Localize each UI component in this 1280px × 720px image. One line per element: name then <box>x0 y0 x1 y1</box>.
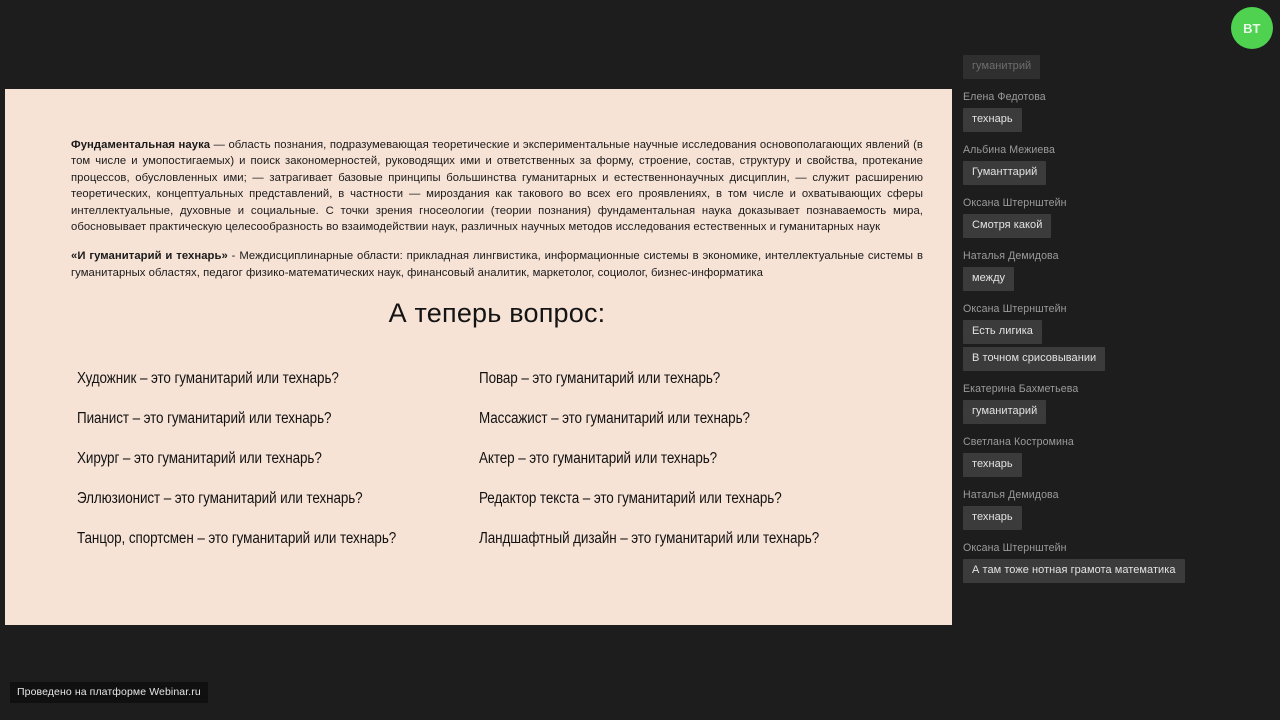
question-item: Эллюзионист – это гуманитарий или технар… <box>77 479 431 519</box>
chat-message-bubble[interactable]: В точном срисовывании <box>963 347 1105 371</box>
paragraph-1-lead: Фундаментальная наука <box>71 139 210 151</box>
question-item: Повар – это гуманитарий или технарь? <box>479 359 870 399</box>
chat-entry: Екатерина Бахметьевагуманитарий <box>954 374 1280 427</box>
chat-message-bubble[interactable]: гуманитрий <box>963 55 1040 79</box>
question-item: Пианист – это гуманитарий или технарь? <box>77 399 431 439</box>
chat-entry: Оксана ШтернштейнСмотря какой <box>954 188 1280 241</box>
paragraph-2-lead: «И гуманитарий и технарь» <box>71 250 228 262</box>
question-item: Актер – это гуманитарий или технарь? <box>479 439 870 479</box>
chat-message-bubble[interactable]: Смотря какой <box>963 214 1051 238</box>
chat-message-bubble[interactable]: технарь <box>963 453 1022 477</box>
chat-entry: гуманитрий <box>954 55 1280 82</box>
chat-message-bubble[interactable]: технарь <box>963 506 1022 530</box>
chat-message-bubble[interactable]: А там тоже нотная грамота математика <box>963 559 1185 583</box>
chat-message-row: А там тоже нотная грамота математика <box>954 559 1280 586</box>
platform-watermark: Проведено на платформе Webinar.ru <box>10 682 208 703</box>
chat-message-row: гуманитарий <box>954 400 1280 427</box>
chat-author: Оксана Штернштейн <box>954 533 1280 559</box>
chat-message-row: между <box>954 267 1280 294</box>
chat-message-row: технарь <box>954 108 1280 135</box>
question-item: Хирург – это гуманитарий или технарь? <box>77 439 431 479</box>
chat-entry: Наталья Демидоватехнарь <box>954 480 1280 533</box>
presentation-slide[interactable]: Фундаментальная наука — область познания… <box>5 89 952 625</box>
chat-message-row: технарь <box>954 453 1280 480</box>
chat-author: Светлана Костромина <box>954 427 1280 453</box>
slide-content: Фундаментальная наука — область познания… <box>71 137 923 559</box>
questions-grid: Художник – это гуманитарий или технарь? … <box>77 359 923 559</box>
question-item: Ландшафтный дизайн – это гуманитарий или… <box>479 519 870 559</box>
chat-author: Оксана Штернштейн <box>954 294 1280 320</box>
webinar-player: ВТ Фундаментальная наука — область позна… <box>0 0 1280 720</box>
question-item: Художник – это гуманитарий или технарь? <box>77 359 431 399</box>
chat-author: Оксана Штернштейн <box>954 188 1280 214</box>
chat-message-bubble[interactable]: между <box>963 267 1014 291</box>
chat-author: Наталья Демидова <box>954 241 1280 267</box>
chat-message-row: Гуманттарий <box>954 161 1280 188</box>
chat-message-row: технарь <box>954 506 1280 533</box>
chat-entry: Светлана Костроминатехнарь <box>954 427 1280 480</box>
chat-author: Альбина Межиева <box>954 135 1280 161</box>
paragraph-interdisciplinary: «И гуманитарий и технарь» - Междисциплин… <box>71 248 923 281</box>
chat-message-list[interactable]: гуманитрийЕлена ФедотоватехнарьАльбина М… <box>954 55 1280 586</box>
paragraph-1-rest: — область познания, подразумевающая теор… <box>71 139 923 233</box>
chat-message-bubble[interactable]: Гуманттарий <box>963 161 1046 185</box>
chat-message-bubble[interactable]: Есть лигика <box>963 320 1042 344</box>
question-item: Массажист – это гуманитарий или технарь? <box>479 399 870 439</box>
chat-entry: Оксана ШтернштейнЕсть лигикаВ точном сри… <box>954 294 1280 374</box>
chat-message-row: В точном срисовывании <box>954 347 1280 374</box>
chat-message-row: Есть лигика <box>954 320 1280 347</box>
slide-heading: А теперь вопрос: <box>71 298 923 329</box>
chat-author: Наталья Демидова <box>954 480 1280 506</box>
chat-entry: Наталья Демидовамежду <box>954 241 1280 294</box>
question-item: Редактор текста – это гуманитарий или те… <box>479 479 870 519</box>
chat-message-row: гуманитрий <box>954 55 1280 82</box>
chat-entry: Елена Федотоватехнарь <box>954 82 1280 135</box>
chat-entry: Альбина МежиеваГуманттарий <box>954 135 1280 188</box>
chat-panel[interactable]: гуманитрийЕлена ФедотоватехнарьАльбина М… <box>954 0 1280 720</box>
chat-message-bubble[interactable]: технарь <box>963 108 1022 132</box>
chat-author: Елена Федотова <box>954 82 1280 108</box>
chat-entry: Оксана ШтернштейнА там тоже нотная грамо… <box>954 533 1280 586</box>
paragraph-fundamental-science: Фундаментальная наука — область познания… <box>71 137 923 235</box>
question-item: Танцор, спортсмен – это гуманитарий или … <box>77 519 431 559</box>
chat-author: Екатерина Бахметьева <box>954 374 1280 400</box>
chat-message-row: Смотря какой <box>954 214 1280 241</box>
chat-message-bubble[interactable]: гуманитарий <box>963 400 1046 424</box>
